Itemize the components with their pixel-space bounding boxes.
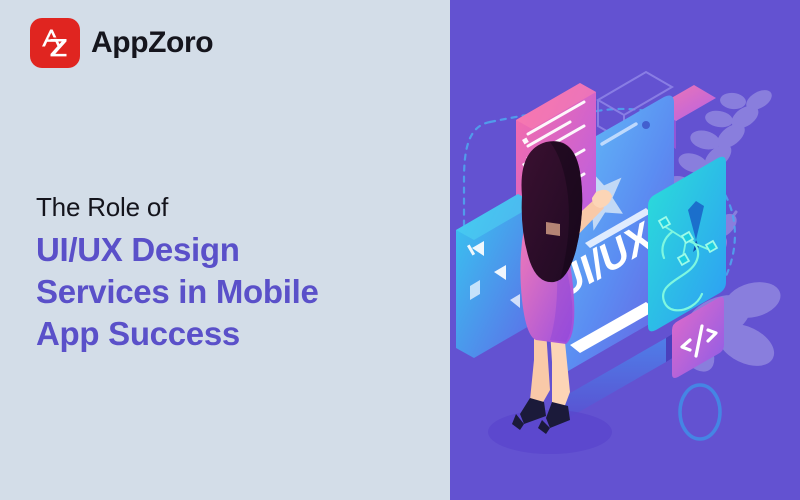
headline-line-3: App Success (36, 313, 436, 355)
ui-ux-illustration: UI/UX (450, 0, 800, 500)
headline-eyebrow: The Role of (36, 192, 436, 224)
headline-line-1: UI/UX Design (36, 229, 436, 271)
promo-banner: AppZoro The Role of UI/UX Design Service… (0, 0, 800, 500)
headline-block: The Role of UI/UX Design Services in Mob… (36, 192, 436, 355)
headline-line-2: Services in Mobile (36, 271, 436, 313)
right-illustration-panel: UI/UX (450, 0, 800, 500)
appzoro-az-logo-icon (30, 18, 80, 68)
left-content-panel: AppZoro The Role of UI/UX Design Service… (0, 0, 450, 500)
brand-wordmark: AppZoro (91, 28, 213, 58)
brand-logo-lockup[interactable]: AppZoro (30, 18, 213, 68)
